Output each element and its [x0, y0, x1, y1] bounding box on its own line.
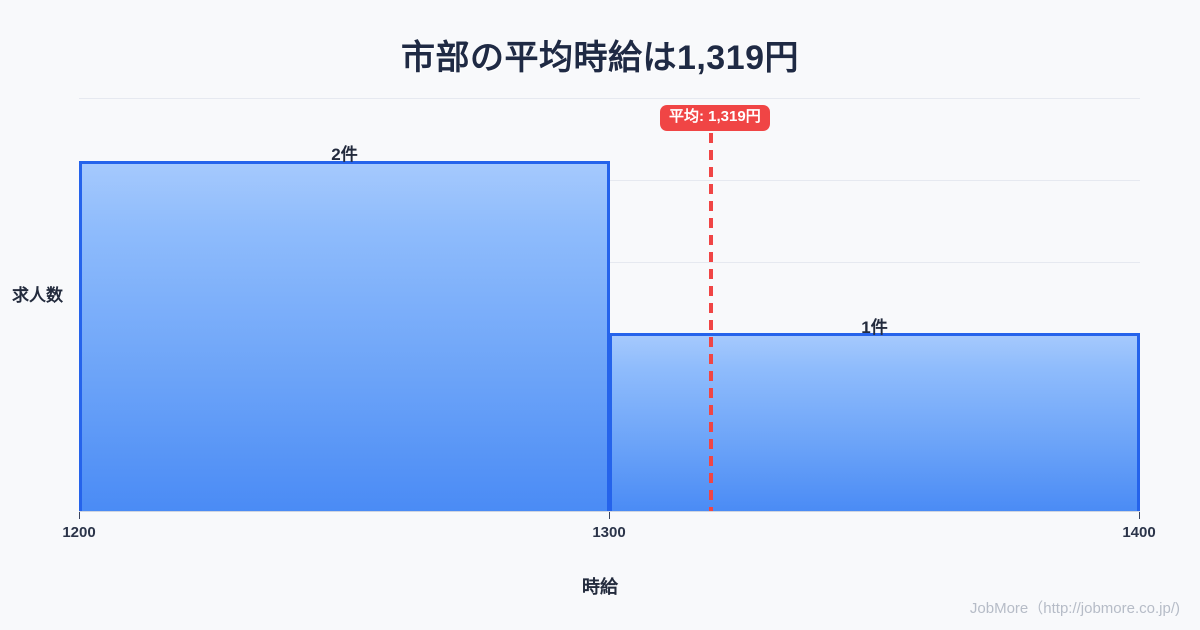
- average-dashed-line: [709, 133, 713, 512]
- y-axis-title: 求人数: [12, 281, 63, 306]
- x-axis-tick-1200: [79, 512, 80, 519]
- histogram-chart: 市部の平均時給は1,319円 2件 1件 平均: 1,319円 1200 130…: [0, 0, 1200, 630]
- x-axis-tick-1400: [1139, 512, 1140, 519]
- x-tick-label-1400: 1400: [1099, 524, 1179, 541]
- chart-title: 市部の平均時給は1,319円: [0, 30, 1200, 79]
- bar-value-label-1200: 2件: [79, 140, 610, 165]
- x-axis-tick-1300: [609, 512, 610, 519]
- footer-credit: JobMore（http://jobmore.co.jp/): [970, 597, 1180, 618]
- gridline-top: [79, 98, 1140, 99]
- average-badge: 平均: 1,319円: [660, 105, 770, 131]
- x-axis-title: 時給: [0, 573, 1200, 599]
- histogram-bar-1200[interactable]: [79, 161, 610, 512]
- bar-value-label-1300: 1件: [609, 313, 1140, 338]
- x-tick-label-1200: 1200: [39, 524, 119, 541]
- x-tick-label-1300: 1300: [569, 524, 649, 541]
- histogram-bar-1300[interactable]: [609, 333, 1140, 512]
